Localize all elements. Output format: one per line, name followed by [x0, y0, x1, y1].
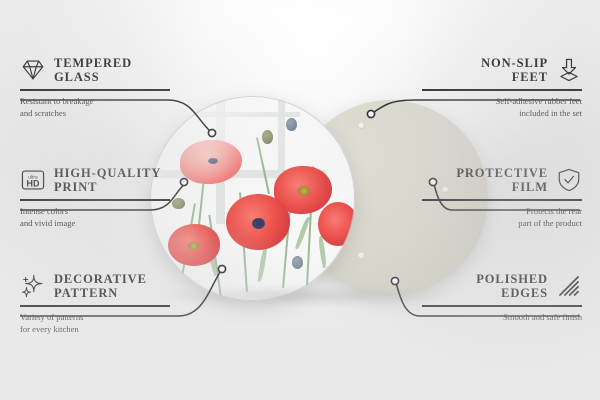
feature-high-quality-print: ultra HD HIGH-QUALITY PRINT Intense colo…: [20, 166, 170, 230]
feature-description: Smooth and safe finish: [422, 311, 582, 323]
feature-decorative-pattern: DECORATIVE PATTERN Variety of patterns f…: [20, 272, 170, 336]
infographic-canvas: TEMPERED GLASS Resistant to breakage and…: [0, 0, 600, 400]
product-shadow: [158, 286, 448, 306]
polished-edge: [150, 96, 355, 301]
feature-title-line: FEET: [512, 70, 548, 84]
feature-title-line: PROTECTIVE: [456, 166, 548, 180]
divider: [20, 89, 170, 91]
ultra-hd-icon: ultra HD: [20, 167, 46, 193]
shield-check-icon: [556, 167, 582, 193]
feature-title-line: HIGH-QUALITY: [54, 166, 161, 180]
feature-title-line: POLISHED: [476, 272, 548, 286]
divider: [422, 199, 582, 201]
feature-title-line: TEMPERED: [54, 56, 132, 70]
rubber-foot: [358, 122, 365, 129]
diagonal-lines-icon: [556, 273, 582, 299]
feature-non-slip-feet: NON-SLIP FEET Self-adhesive rubber feet …: [422, 56, 582, 120]
feature-title-line: PRINT: [54, 180, 161, 194]
feature-title-line: NON-SLIP: [481, 56, 548, 70]
feature-title-line: DECORATIVE: [54, 272, 147, 286]
feature-title-line: FILM: [512, 180, 548, 194]
diamond-icon: [20, 57, 46, 83]
feature-description: Protects the rear part of the product: [422, 205, 582, 230]
feature-tempered-glass: TEMPERED GLASS Resistant to breakage and…: [20, 56, 170, 120]
feature-description: Resistant to breakage and scratches: [20, 95, 170, 120]
rubber-foot: [358, 252, 365, 259]
svg-text:HD: HD: [27, 179, 40, 189]
feature-title-line: EDGES: [501, 286, 548, 300]
feature-protective-film: PROTECTIVE FILM Protects the rear part o…: [422, 166, 582, 230]
feature-description: Self-adhesive rubber feet included in th…: [422, 95, 582, 120]
feature-description: Variety of patterns for every kitchen: [20, 311, 170, 336]
arrow-down-pad-icon: [556, 57, 582, 83]
feature-description: Intense colors and vivid image: [20, 205, 170, 230]
feature-title-line: PATTERN: [54, 286, 147, 300]
divider: [422, 89, 582, 91]
sparkles-icon: [20, 273, 46, 299]
divider: [20, 199, 170, 201]
divider: [422, 305, 582, 307]
divider: [20, 305, 170, 307]
board-front-view: [150, 96, 355, 301]
product-image: [150, 96, 450, 301]
feature-title-line: GLASS: [54, 70, 132, 84]
feature-polished-edges: POLISHED EDGES Smooth and safe finish: [422, 272, 582, 323]
